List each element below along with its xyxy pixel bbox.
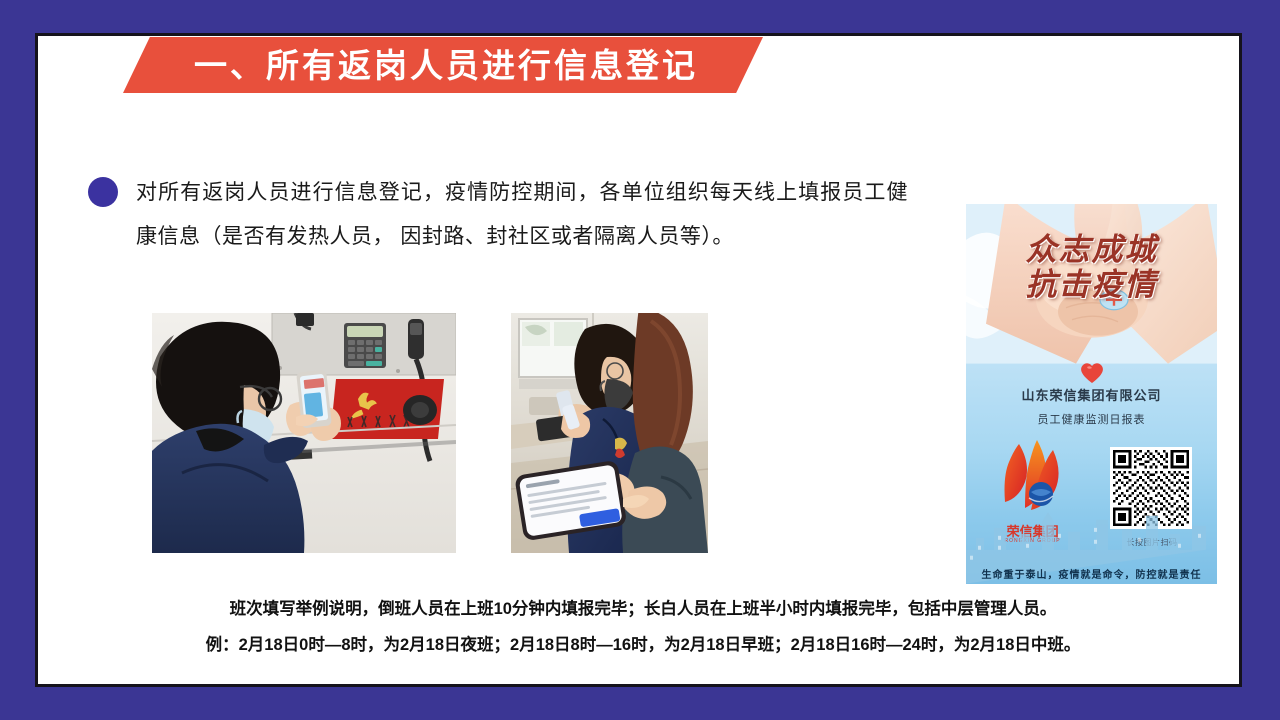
photo-employees-filling-form [511, 313, 708, 553]
bullet-dot-icon [88, 177, 118, 207]
body-paragraph-block: 对所有返岗人员进行信息登记，疫情防控期间，各单位组织每天线上填报员工健康信息（是… [88, 171, 908, 259]
caption-line-2: 例：2月18日0时—8时，为2月18日夜班；2月18日8时—16时，为2月18日… [98, 627, 1188, 663]
photo-worker-phone-registration-graphic [152, 313, 456, 553]
poster-headline-line2: 抗击疫情 [966, 269, 1217, 300]
heart-icon [1079, 360, 1105, 384]
body-paragraph-text: 对所有返岗人员进行信息登记，疫情防控期间，各单位组织每天线上填报员工健康信息（是… [136, 171, 908, 259]
poster-headline-line1: 众志成城 [966, 234, 1217, 265]
health-report-poster: 众志成城 抗击疫情 山东荣信集团有限公司 员工健康监测日报表 [966, 204, 1217, 584]
photo-worker-phone-registration [152, 313, 456, 553]
photo-employees-filling-form-graphic [511, 313, 708, 553]
caption-line-1: 班次填写举例说明，倒班人员在上班10分钟内填报完毕；长白人员在上班半小时内填报完… [98, 591, 1188, 627]
poster-headline: 众志成城 抗击疫情 [966, 234, 1217, 300]
poster-company-name: 山东荣信集团有限公司 [966, 385, 1217, 404]
section-title-text: 一、所有返岗人员进行信息登记 [188, 49, 698, 82]
footer-captions: 班次填写举例说明，倒班人员在上班10分钟内填报完毕；长白人员在上班半小时内填报完… [98, 591, 1188, 663]
slide-card: 一、所有返岗人员进行信息登记 对所有返岗人员进行信息登记，疫情防控期间，各单位组… [35, 33, 1242, 687]
section-title-banner: 一、所有返岗人员进行信息登记 [123, 37, 763, 93]
slide-background: 一、所有返岗人员进行信息登记 对所有返岗人员进行信息登记，疫情防控期间，各单位组… [0, 0, 1280, 720]
poster-subtitle: 员工健康监测日报表 [966, 411, 1217, 427]
poster-bottom-slogan: 生命重于泰山，疫情就是命令，防控就是责任 [966, 566, 1217, 581]
